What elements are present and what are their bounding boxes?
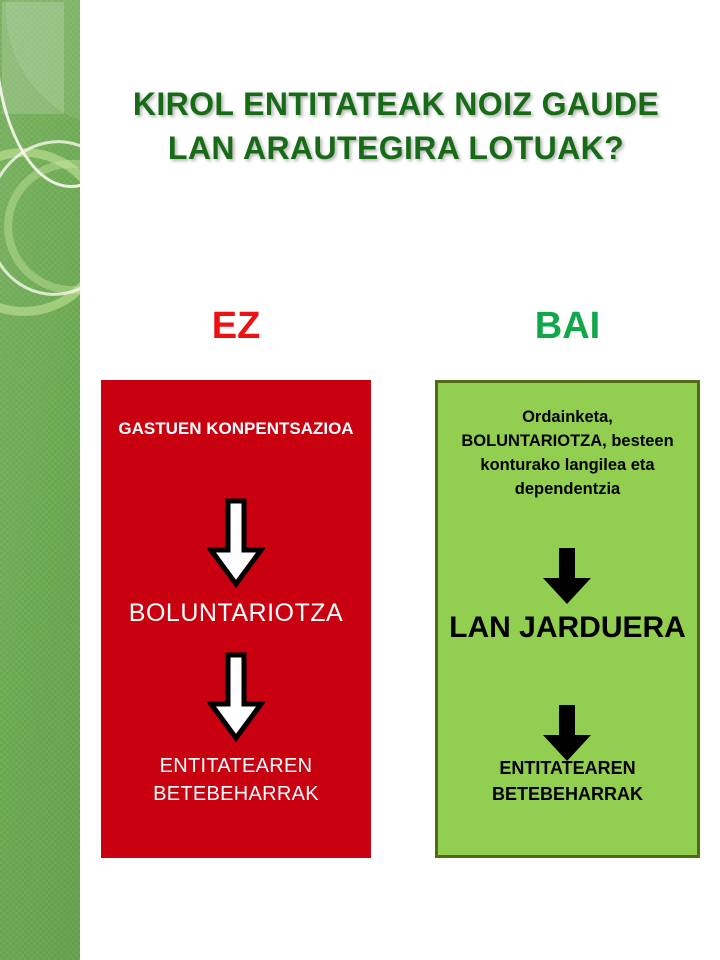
column-heading-ez: EZ	[101, 305, 371, 348]
down-arrow-icon	[207, 652, 265, 747]
down-arrow-icon	[539, 548, 595, 611]
flow-step-ez-2: BOLUNTARIOTZA	[107, 599, 365, 628]
decorative-sidebar	[0, 0, 80, 960]
flow-step-ez-3: ENTITATEAREN BETEBEHARRAK	[113, 752, 359, 808]
flow-box-bai: Ordainketa, BOLUNTARIOTZA, besteen kontu…	[435, 380, 700, 858]
column-heading-bai: BAI	[435, 305, 700, 348]
flow-step-bai-3: ENTITATEAREN BETEBEHARRAK	[448, 755, 687, 807]
down-arrow-icon	[207, 498, 265, 593]
sidebar-gradient-overlay	[0, 0, 80, 960]
flow-step-bai-1: Ordainketa, BOLUNTARIOTZA, besteen kontu…	[448, 405, 687, 501]
flow-box-ez: GASTUEN KONPENTSAZIOA BOLUNTARIOTZA ENTI…	[101, 380, 371, 858]
flow-step-bai-2: LAN JARDUERA	[448, 607, 687, 649]
flow-step-ez-1: GASTUEN KONPENTSAZIOA	[113, 416, 359, 441]
page-title: KIROL ENTITATEAK NOIZ GAUDE LAN ARAUTEGI…	[96, 82, 696, 170]
